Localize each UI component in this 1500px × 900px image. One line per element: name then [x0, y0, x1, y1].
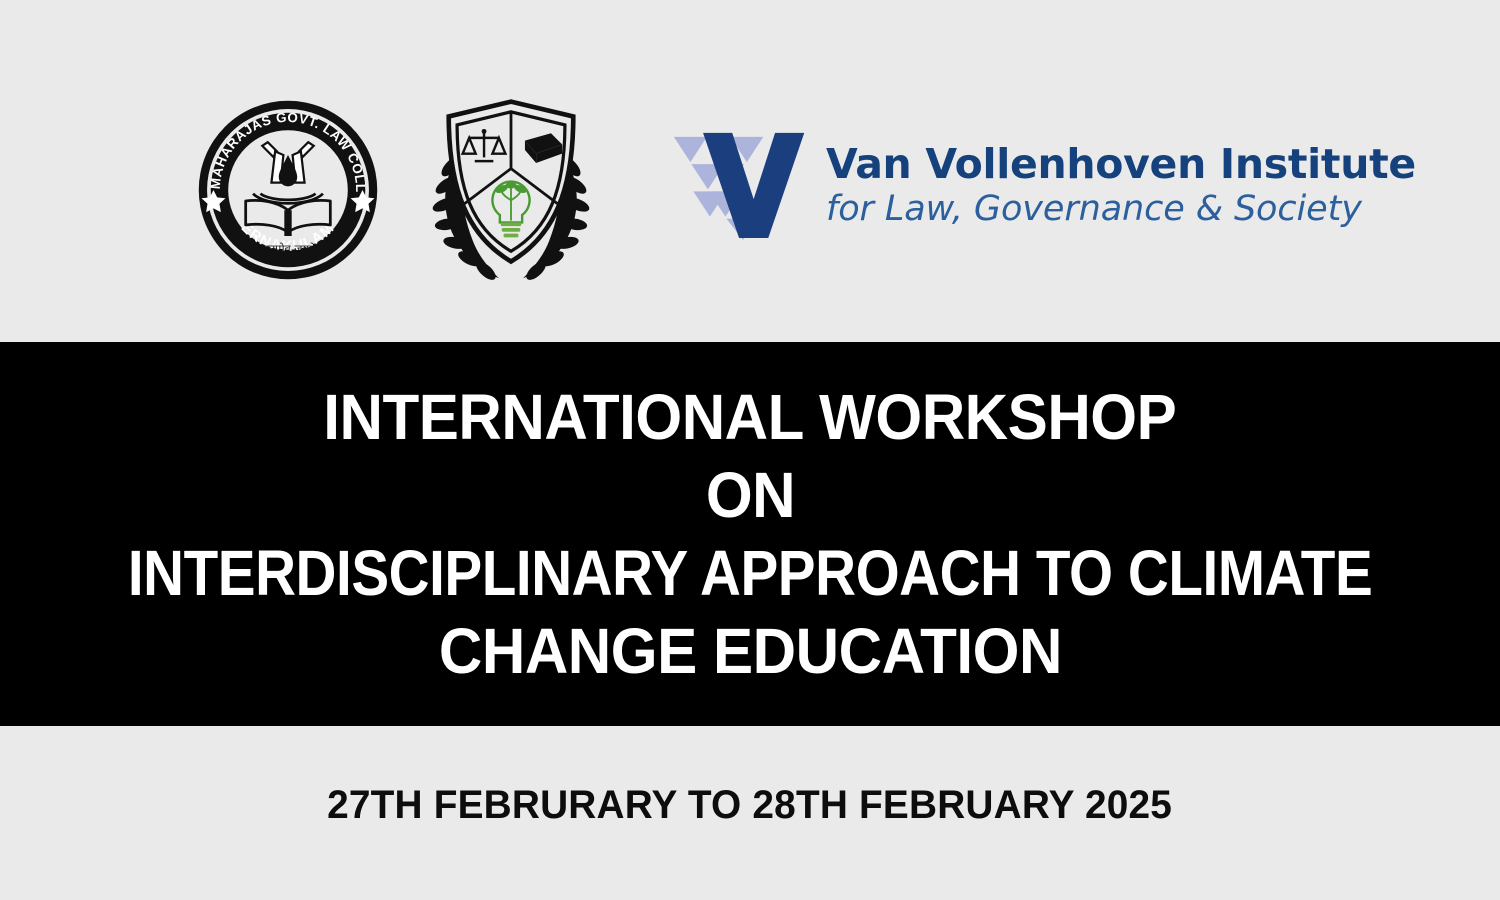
vvi-subtitle: for Law, Governance & Society [826, 192, 1416, 227]
logo-band: H.H. MAHARAJAS GOVT. LAW COLLEGE ERNAKUL… [0, 0, 1500, 342]
title-line-1: INTERNATIONAL WORKSHOP [323, 378, 1176, 456]
title-line-2: ON [705, 456, 794, 534]
title-band: INTERNATIONAL WORKSHOP ON INTERDISCIPLIN… [0, 342, 1500, 726]
van-vollenhoven-institute-logo: Van Vollenhoven Institute for Law, Gover… [668, 126, 1314, 244]
vvi-v-mark-icon [668, 129, 814, 241]
title-line-3: INTERDISCIPLINARY APPROACH TO CLIMATE [128, 534, 1372, 612]
workshop-date-range: 27TH FEBRURARY TO 28TH FEBRUARY 2025 [327, 783, 1172, 828]
workshop-poster: H.H. MAHARAJAS GOVT. LAW COLLEGE ERNAKUL… [0, 0, 1500, 900]
vvi-title: Van Vollenhoven Institute [826, 144, 1416, 185]
law-environment-shield-logo [432, 96, 590, 282]
date-band: 27TH FEBRURARY TO 28TH FEBRUARY 2025 [0, 726, 1500, 900]
college-seal-logo: H.H. MAHARAJAS GOVT. LAW COLLEGE ERNAKUL… [196, 98, 380, 282]
title-line-4: CHANGE EDUCATION [438, 612, 1061, 690]
svg-text:सत्यमेव जयते: सत्यमेव जयते [261, 243, 316, 256]
